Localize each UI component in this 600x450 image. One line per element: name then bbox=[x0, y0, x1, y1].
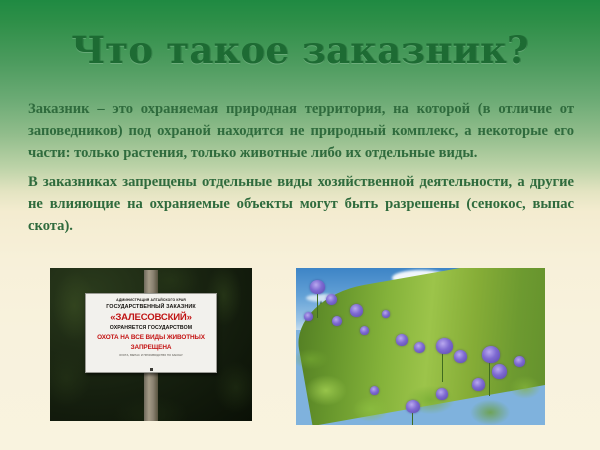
body-text-block: Заказник – это охраняемая природная терр… bbox=[28, 99, 574, 238]
columbine-flower bbox=[326, 294, 337, 305]
sign-line-reserve-name: «ЗАЛЕСОВСКИЙ» bbox=[89, 311, 213, 324]
sign-bolt bbox=[150, 368, 153, 371]
photo-reserve-sign: АДМИНИСТРАЦИЯ АЛТАЙСКОГО КРАЯ ГОСУДАРСТВ… bbox=[50, 268, 252, 421]
columbine-flower bbox=[492, 364, 507, 379]
flower-stem bbox=[317, 292, 318, 318]
sign-line-state-reserve: ГОСУДАРСТВЕННЫЙ ЗАКАЗНИК bbox=[89, 303, 213, 311]
columbine-flower bbox=[350, 304, 363, 317]
columbine-flower bbox=[514, 356, 525, 367]
page-title: Что такое заказник? bbox=[71, 28, 529, 72]
slide-canvas: Что такое заказник? Заказник – это охран… bbox=[0, 0, 600, 450]
sign-board: АДМИНИСТРАЦИЯ АЛТАЙСКОГО КРАЯ ГОСУДАРСТВ… bbox=[85, 293, 217, 373]
columbine-flower bbox=[360, 326, 369, 335]
columbine-flower bbox=[370, 386, 379, 395]
columbine-flower bbox=[304, 312, 313, 321]
columbine-flower bbox=[414, 342, 425, 353]
sign-line-hunting-all-animals: ОХОТА НА ВСЕ ВИДЫ ЖИВОТНЫХ bbox=[89, 333, 213, 343]
columbine-flower bbox=[382, 310, 390, 318]
sign-line-protected-by-state: ОХРАНЯЕТСЯ ГОСУДАРСТВОМ bbox=[89, 324, 213, 333]
photo-alpine-meadow bbox=[296, 268, 545, 425]
flower-stem bbox=[489, 362, 490, 396]
columbine-flower bbox=[482, 346, 500, 363]
columbine-flower bbox=[332, 316, 342, 326]
columbine-flower bbox=[396, 334, 408, 346]
sign-line-forbidden: ЗАПРЕЩЕНА bbox=[89, 343, 213, 353]
columbine-flower bbox=[454, 350, 467, 363]
columbine-flower bbox=[436, 388, 448, 400]
paragraph-definition: Заказник – это охраняемая природная терр… bbox=[28, 99, 574, 164]
flower-stem bbox=[442, 352, 443, 382]
sign-line-fineprint: ОХОТА, ВЫПАС И ПРОИЗВОДСТВО ПО ЗАКОНУ bbox=[89, 353, 213, 358]
columbine-flower bbox=[406, 400, 420, 413]
paragraph-restrictions: В заказниках запрещены отдельные виды хо… bbox=[28, 172, 574, 237]
photo-row: АДМИНИСТРАЦИЯ АЛТАЙСКОГО КРАЯ ГОСУДАРСТВ… bbox=[0, 268, 600, 428]
columbine-flower bbox=[436, 338, 453, 354]
columbine-flower bbox=[472, 378, 485, 391]
columbine-flower bbox=[310, 280, 325, 294]
title-area: Что такое заказник? bbox=[0, 28, 600, 72]
